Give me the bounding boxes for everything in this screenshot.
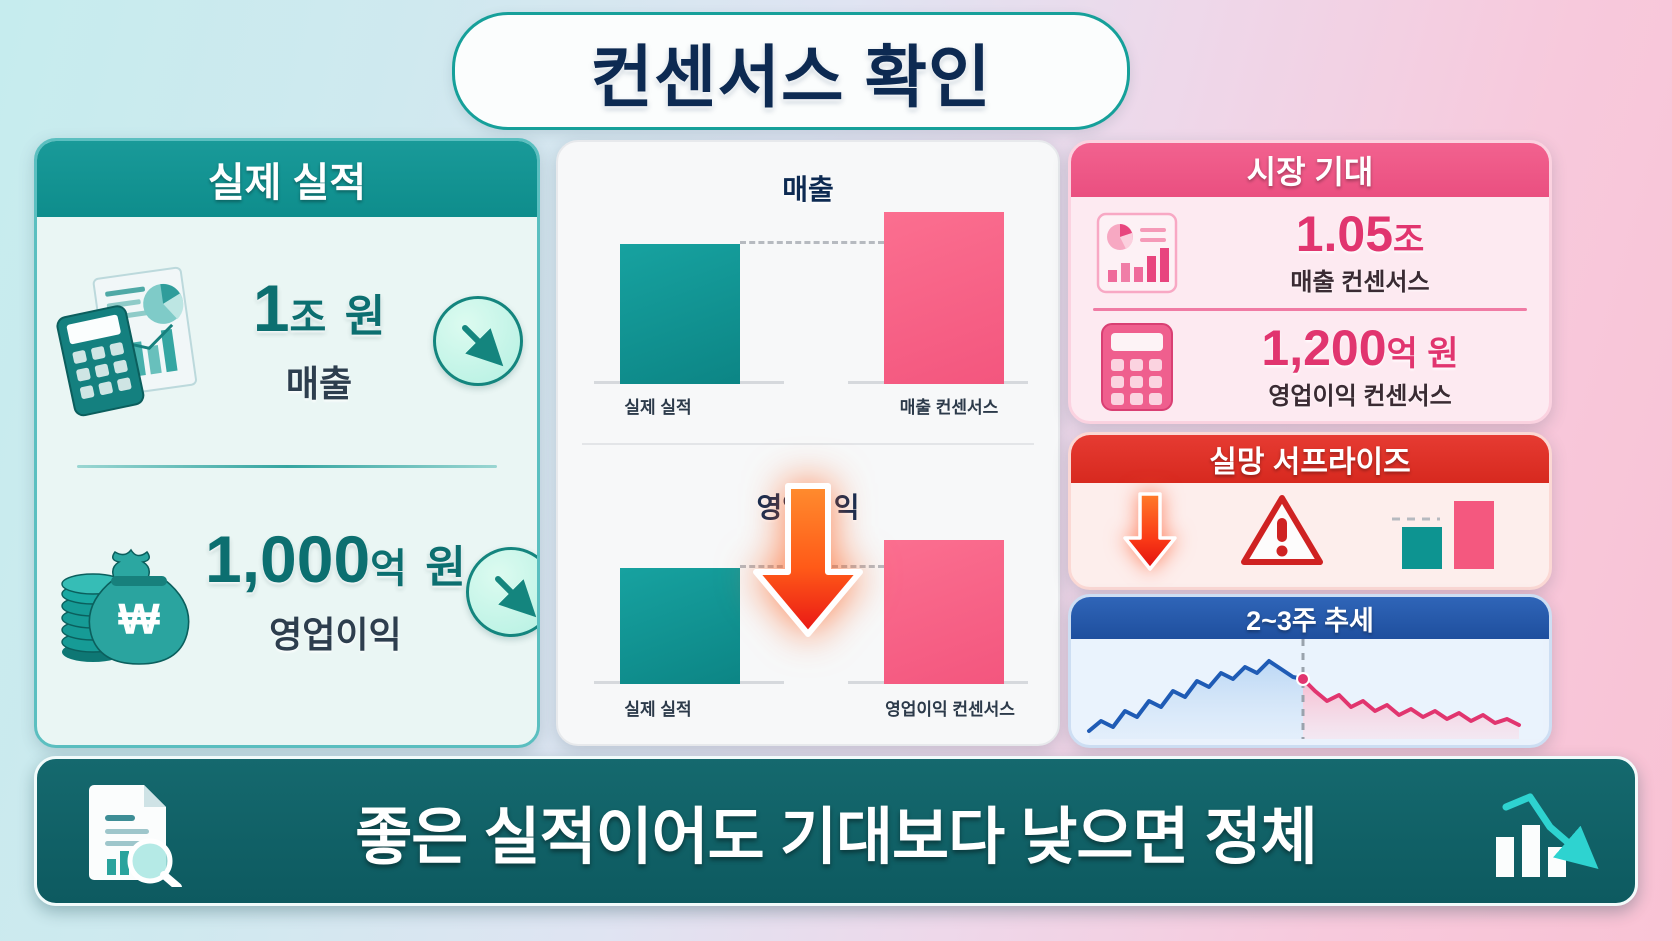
market-expectation-header: 시장 기대 bbox=[1071, 143, 1549, 197]
actual-operating-profit-figures: 1,000억 원 영업이익 bbox=[205, 526, 466, 658]
revenue-consensus-label: 매출 컨센서스 bbox=[854, 393, 1044, 418]
market-op-unit: 억 원 bbox=[1387, 335, 1459, 373]
trend-header: 2~3주 추세 bbox=[1071, 597, 1549, 639]
disappointing-surprise-panel: 실망 서프라이즈 bbox=[1068, 432, 1552, 590]
revenue-comparison-chart: 매출 실제 실적 매출 컨센서스 bbox=[558, 142, 1058, 442]
market-operating-profit-value: 1,200억 원 bbox=[1261, 323, 1458, 374]
actual-revenue-number: 1 bbox=[253, 271, 290, 345]
footer-banner: 좋은 실적이어도 기대보다 낮으면 정체 bbox=[34, 756, 1638, 906]
market-expectation-header-label: 시장 기대 bbox=[1247, 147, 1374, 193]
calculator-report-icon bbox=[55, 259, 205, 424]
actual-operating-profit-label: 영업이익 bbox=[269, 606, 401, 658]
svg-text:₩: ₩ bbox=[118, 595, 160, 644]
mini-bar-compare-icon bbox=[1382, 491, 1502, 576]
page-title: 컨센서스 확인 bbox=[452, 12, 1130, 130]
comparison-chart-panel: 매출 실제 실적 매출 컨센서스 영업이익 실제 실적 영업이익 컨센서스 bbox=[556, 140, 1060, 746]
revenue-actual-bar bbox=[620, 244, 740, 384]
actual-op-number: 1,000 bbox=[205, 522, 370, 596]
down-arrow-icon bbox=[1118, 490, 1182, 577]
market-operating-profit-row: 1,200억 원 영업이익 컨센서스 bbox=[1071, 311, 1549, 422]
revenue-consensus-bar bbox=[884, 212, 1004, 384]
actual-operating-profit-value: 1,000억 원 bbox=[205, 526, 466, 592]
disappointing-surprise-body bbox=[1071, 483, 1549, 583]
op-actual-label: 실제 실적 bbox=[588, 695, 728, 720]
market-revenue-unit: 조 bbox=[1393, 221, 1424, 259]
footer-message: 좋은 실적이어도 기대보다 낮으면 정체 bbox=[193, 786, 1479, 876]
op-consensus-label: 영업이익 컨센서스 bbox=[850, 695, 1050, 720]
report-chart-icon bbox=[1087, 208, 1187, 298]
declining-bar-chart-icon bbox=[1479, 781, 1609, 881]
disappointing-surprise-header-label: 실망 서프라이즈 bbox=[1209, 437, 1411, 481]
actual-results-panel: 실제 실적 bbox=[34, 138, 540, 748]
trend-header-label: 2~3주 추세 bbox=[1246, 599, 1374, 638]
op-actual-bar bbox=[620, 568, 740, 684]
actual-revenue-unit: 조 bbox=[290, 296, 327, 340]
revenue-chart-plot bbox=[584, 216, 1036, 384]
actual-operating-profit-row: ₩ 1,000억 원 영업이익 bbox=[37, 468, 537, 716]
actual-results-header: 실제 실적 bbox=[37, 141, 537, 217]
market-revenue-number: 1.05 bbox=[1296, 206, 1393, 262]
op-consensus-bar bbox=[884, 540, 1004, 684]
actual-revenue-figures: 1조 원 매출 bbox=[205, 275, 433, 407]
line-trend-icon bbox=[1071, 639, 1549, 739]
market-revenue-value: 1.05조 bbox=[1296, 209, 1425, 260]
actual-revenue-label: 매출 bbox=[286, 355, 352, 407]
market-revenue-figures: 1.05조 매출 컨센서스 bbox=[1187, 209, 1533, 297]
actual-results-header-label: 실제 실적 bbox=[208, 150, 366, 208]
arrow-down-right-icon bbox=[433, 296, 523, 386]
document-magnifier-icon bbox=[63, 775, 193, 887]
market-op-number: 1,200 bbox=[1261, 320, 1386, 376]
market-revenue-label: 매출 컨센서스 bbox=[1290, 262, 1429, 297]
calculator-icon bbox=[1087, 319, 1187, 415]
actual-op-currency: 원 bbox=[425, 543, 465, 592]
actual-revenue-value: 1조 원 bbox=[253, 275, 385, 341]
money-bag-icon: ₩ bbox=[55, 510, 205, 675]
actual-op-unit: 억 bbox=[370, 547, 407, 591]
actual-revenue-row: 1조 원 매출 bbox=[37, 217, 537, 465]
warning-triangle-icon bbox=[1239, 492, 1325, 575]
down-arrow-icon bbox=[733, 480, 883, 640]
revenue-gap-dashed-line bbox=[740, 241, 884, 244]
revenue-actual-label: 실제 실적 bbox=[588, 393, 728, 418]
market-operating-profit-figures: 1,200억 원 영업이익 컨센서스 bbox=[1187, 323, 1533, 411]
arrow-down-right-icon bbox=[466, 547, 540, 637]
market-expectation-panel: 시장 기대 1.05조 매출 컨센서스 bbox=[1068, 140, 1552, 424]
disappointing-surprise-header: 실망 서프라이즈 bbox=[1071, 435, 1549, 483]
revenue-chart-title: 매출 bbox=[558, 168, 1058, 208]
actual-revenue-currency: 원 bbox=[345, 292, 385, 341]
market-revenue-row: 1.05조 매출 컨센서스 bbox=[1071, 197, 1549, 308]
trend-panel: 2~3주 추세 bbox=[1068, 594, 1552, 748]
page-title-text: 컨센서스 확인 bbox=[590, 22, 991, 121]
market-operating-profit-label: 영업이익 컨센서스 bbox=[1268, 376, 1451, 411]
